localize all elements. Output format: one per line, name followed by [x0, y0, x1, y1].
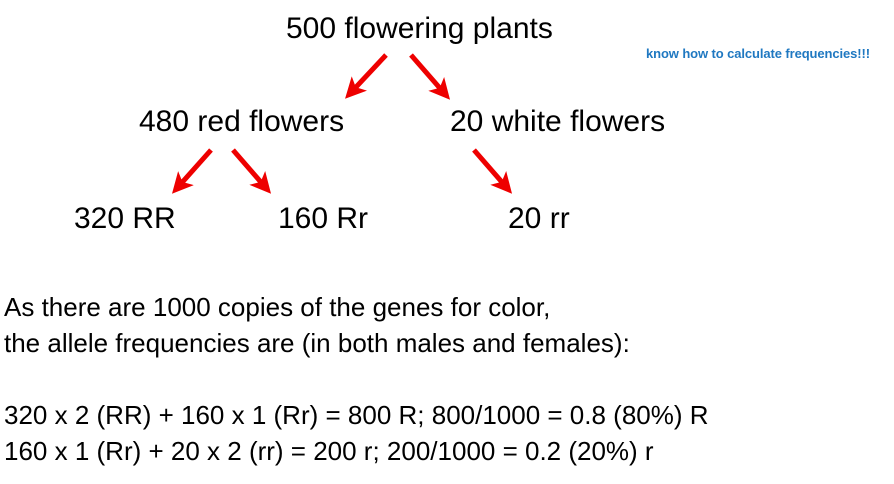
- calculation-line-R: 320 x 2 (RR) + 160 x 1 (Rr) = 800 R; 800…: [4, 402, 709, 428]
- diagram-node-genotype-rr: 20 rr: [508, 204, 570, 234]
- explanation-line-1: As there are 1000 copies of the genes fo…: [4, 294, 550, 320]
- arrow-root-to-red: [351, 55, 386, 93]
- diagram-node-root: 500 flowering plants: [286, 14, 553, 44]
- diagram-node-white-flowers: 20 white flowers: [450, 107, 665, 137]
- diagram-node-genotype-RR: 320 RR: [74, 204, 176, 234]
- arrow-red-to-rr: [177, 150, 211, 188]
- diagram-node-genotype-Rr: 160 Rr: [278, 204, 368, 234]
- arrow-root-to-white: [411, 55, 445, 94]
- arrow-red-to-rr-het: [233, 150, 266, 188]
- explanation-line-2: the allele frequencies are (in both male…: [4, 330, 630, 356]
- slide-canvas: 500 flowering plants 480 red flowers 20 …: [0, 0, 894, 484]
- arrow-white-to-rr: [474, 150, 507, 188]
- diagram-node-red-flowers: 480 red flowers: [139, 107, 344, 137]
- annotation-note: know how to calculate frequencies!!!: [646, 46, 870, 61]
- calculation-line-r: 160 x 1 (Rr) + 20 x 2 (rr) = 200 r; 200/…: [4, 438, 654, 464]
